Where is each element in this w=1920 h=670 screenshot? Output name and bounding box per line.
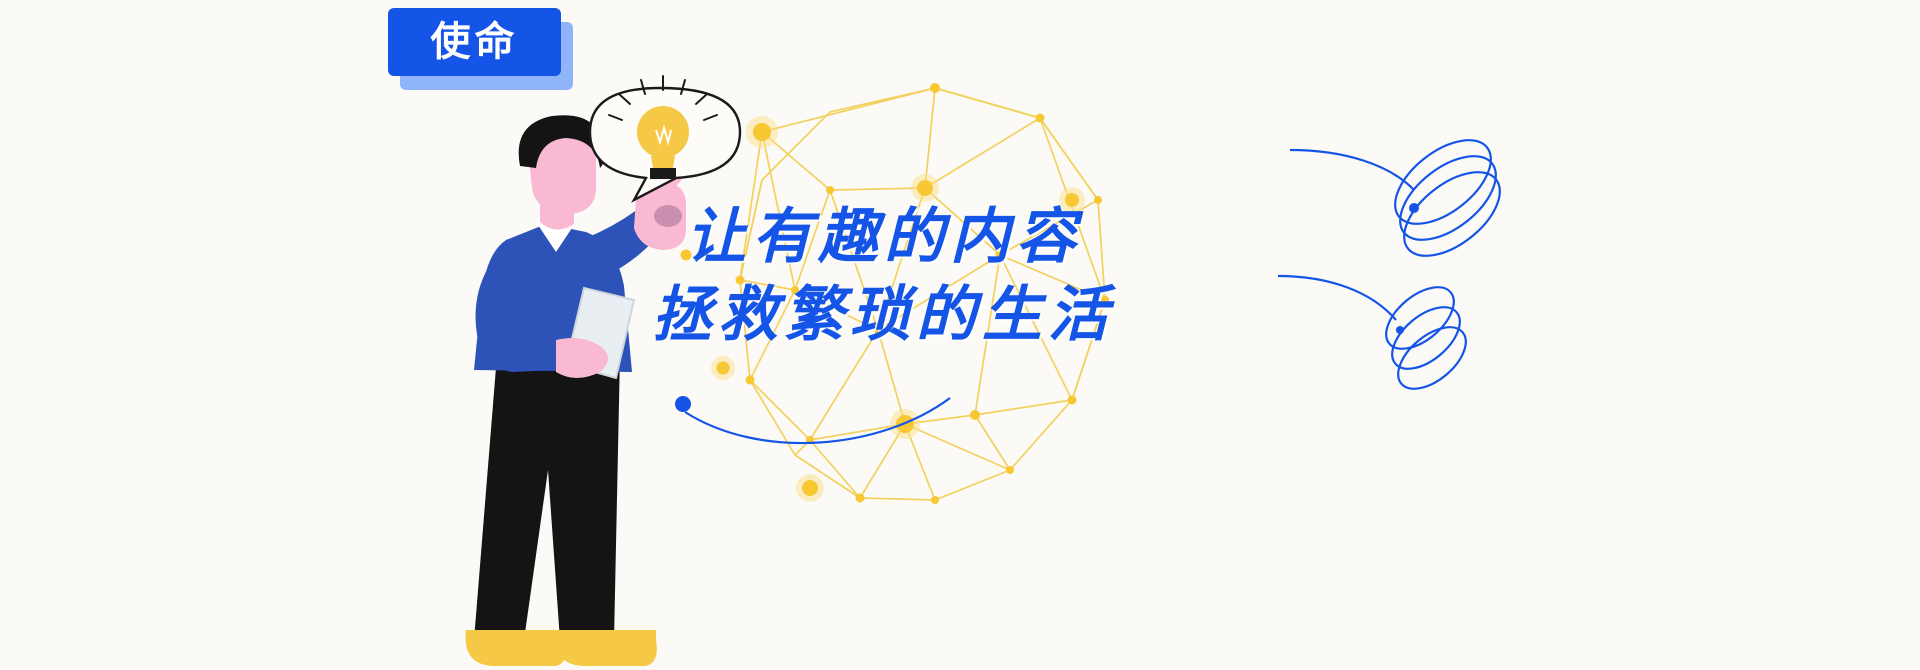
headline-line-2: 拯救繁琐的生活 (652, 276, 1114, 354)
bulb-base (650, 168, 676, 179)
bulb-neck (651, 156, 675, 168)
headline: 让有趣的内容 拯救繁琐的生活 (686, 198, 1114, 354)
mission-banner: 使命 让有趣的内容 拯救繁琐的生活 (0, 0, 1920, 670)
headline-line-1: 让有趣的内容 (686, 198, 1114, 276)
